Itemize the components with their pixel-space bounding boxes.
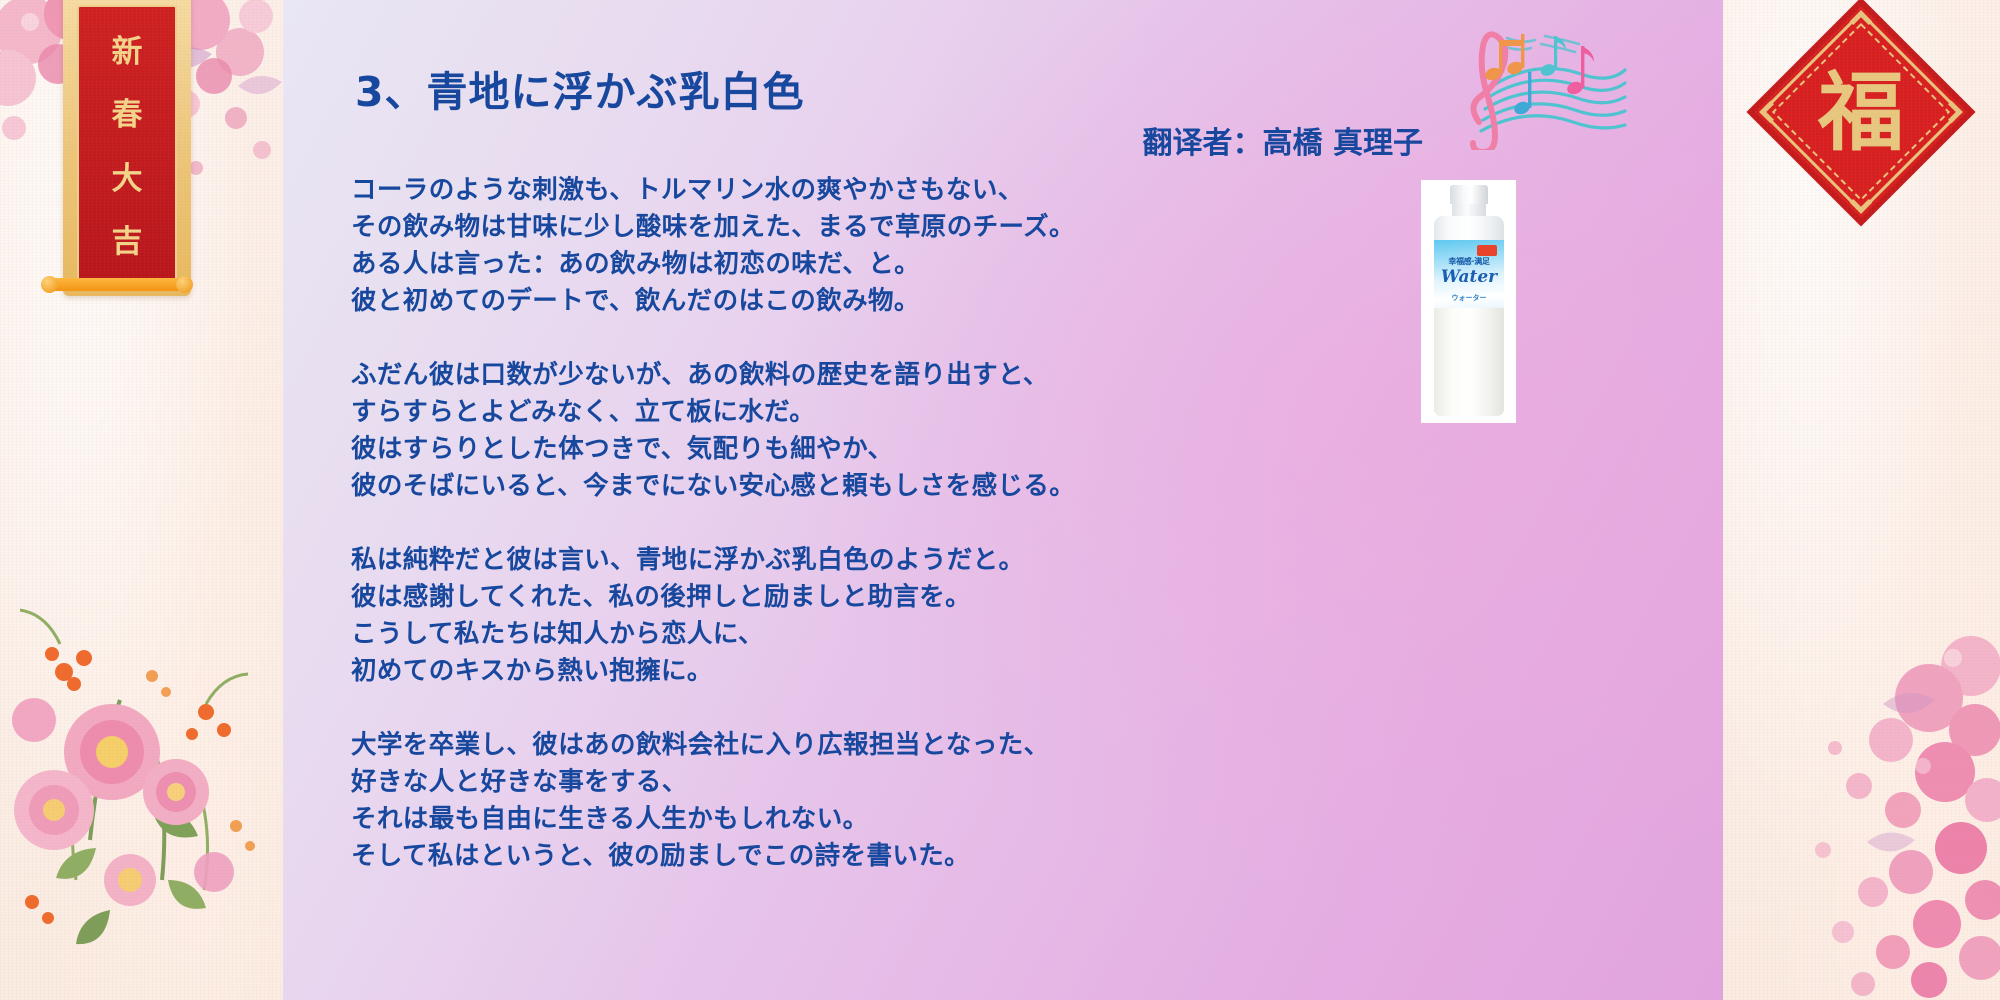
poem-stanza: 私は純粋だと彼は言い、青地に浮かぶ乳白色のようだと。 彼は感謝してくれた、私の後… [351,542,1251,690]
fu-character: 福 [1817,62,1904,163]
poem-line: それは最も自由に生きる人生かもしれない。 [351,801,1251,838]
music-notes-icon [1449,10,1639,150]
water-bottle-image: 幸福感·满足 Water ウォーター [1421,180,1516,423]
bottle-label: 幸福感·满足 Water ウォーター [1434,240,1504,308]
page-title: 3、青地に浮かぶ乳白色 [355,58,805,118]
poem-line: ふだん彼は口数が少ないが、あの飲料の歴史を語り出すと、 [351,357,1251,394]
poem-line: 彼はすらりとした体つきで、気配りも細やか、 [351,431,1251,468]
poem-stanza: コーラのような刺激も、トルマリン水の爽やかさもない、 その飲み物は甘味に少し酸味… [351,172,1251,320]
poem-stanza: 大学を卒業し、彼はあの飲料会社に入り広報担当となった、 好きな人と好きな事をする… [351,727,1251,875]
poem-body: コーラのような刺激も、トルマリン水の爽やかさもない、 その飲み物は甘味に少し酸味… [351,172,1251,912]
banner-char-4: 吉 [112,216,143,261]
poem-line: 大学を卒業し、彼はあの飲料会社に入り広報担当となった、 [351,727,1251,764]
bottle-label-small-text: 幸福感·满足 [1434,256,1504,267]
bottle-label-sub-text: ウォーター [1434,293,1504,303]
banner-characters: 新 春 大 吉 [79,7,175,280]
sidebar-item-new-year-banner: 新 春 大 吉 [63,0,191,296]
bottle-milky-liquid [1434,308,1504,416]
flower-bouquet-bottom-left [0,580,283,1000]
banner-rod [48,278,186,291]
poem-line: 初めてのキスから熱い抱擁に。 [351,653,1251,690]
banner-field: 新 春 大 吉 [77,5,177,282]
translator-credit: 翻译者：高橋 真理子 [1143,118,1423,162]
poem-line: 彼と初めてのデートで、飲んだのはこの飲み物。 [351,283,1251,320]
bottle-cap [1450,185,1488,204]
banner-char-1: 新 [112,26,143,71]
banner-char-2: 春 [112,89,143,134]
poem-line: 私は純粋だと彼は言い、青地に浮かぶ乳白色のようだと。 [351,542,1251,579]
banner-char-3: 大 [112,153,143,198]
poem-line: そして私はというと、彼の励ましでこの詩を書いた。 [351,838,1251,875]
poem-line: ある人は言った：あの飲み物は初恋の味だ、と。 [351,246,1251,283]
cherry-blossom-bottom-right [1723,580,2000,1000]
poem-content-panel: 3、青地に浮かぶ乳白色 翻译者：高橋 真理子 コーラのような刺激も、トルマリン水… [283,0,1723,1000]
poem-line: 彼は感謝してくれた、私の後押しと励ましと助言を。 [351,579,1251,616]
left-decorative-panel: 新 春 大 吉 [0,0,283,1000]
bottle-brand-text: Water [1434,267,1504,287]
fu-sign-container: 福 [1723,0,2000,230]
poem-line: すらすらとよどみなく、立て板に水だ。 [351,394,1251,431]
poem-line: 好きな人と好きな事をする、 [351,764,1251,801]
bottle-label-badge [1477,245,1497,256]
right-decorative-panel: 福 [1723,0,2000,1000]
poem-line: コーラのような刺激も、トルマリン水の爽やかさもない、 [351,172,1251,209]
poem-line: こうして私たちは知人から恋人に、 [351,616,1251,653]
poem-line: 彼のそばにいると、今までにない安心感と頼もしさを感じる。 [351,468,1251,505]
poem-line: その飲み物は甘味に少し酸味を加えた、まるで草原のチーズ。 [351,209,1251,246]
poem-stanza: ふだん彼は口数が少ないが、あの飲料の歴史を語り出すと、 すらすらとよどみなく、立… [351,357,1251,505]
